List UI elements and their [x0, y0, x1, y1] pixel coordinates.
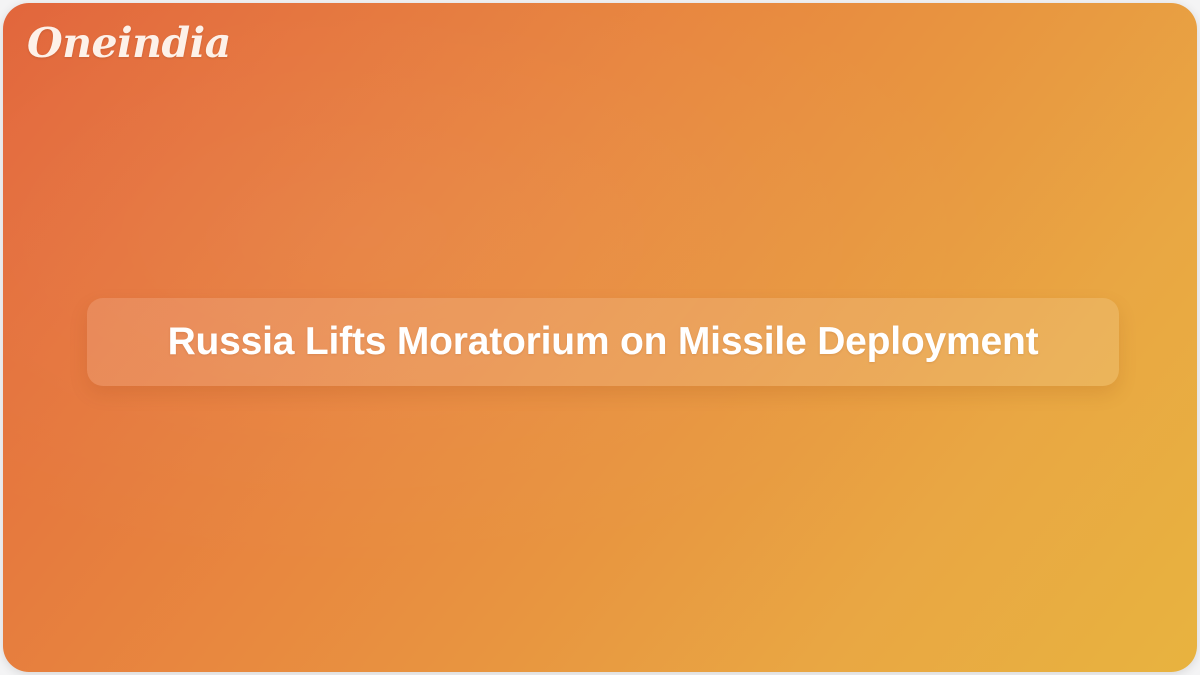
- oneindia-logo[interactable]: Oneindia: [27, 23, 231, 64]
- headline-overlay-card: Russia Lifts Moratorium on Missile Deplo…: [87, 298, 1119, 386]
- page-title: Russia Lifts Moratorium on Missile Deplo…: [168, 320, 1039, 365]
- banner-card: Oneindia Russia Lifts Moratorium on Miss…: [3, 3, 1197, 672]
